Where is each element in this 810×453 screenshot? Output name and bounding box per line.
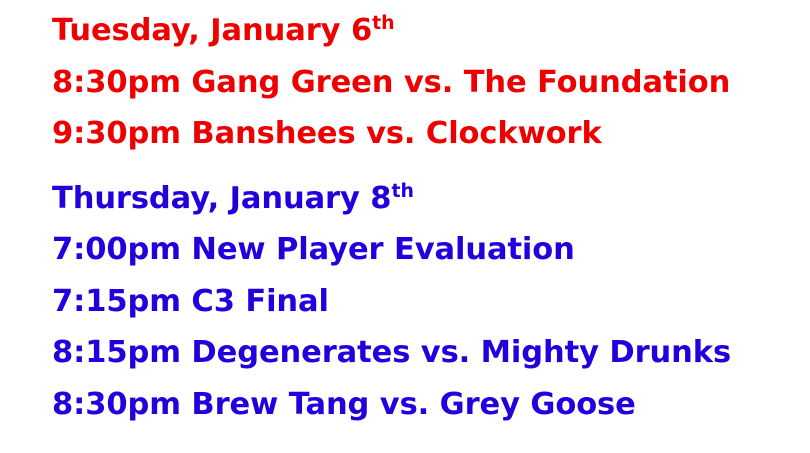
day-heading-tuesday: Tuesday, January 6th xyxy=(52,5,810,57)
event-row: 9:30pm Banshees vs. Clockwork xyxy=(52,108,810,160)
event-time: 8:30pm xyxy=(52,387,181,422)
day-heading-ordinal-suffix: th xyxy=(391,179,414,201)
day-heading-thursday: Thursday, January 8th xyxy=(52,173,810,225)
event-row: 8:15pm Degenerates vs. Mighty Drunks xyxy=(52,327,810,379)
event-name: Brew Tang vs. Grey Goose xyxy=(191,387,635,422)
event-time: 7:00pm xyxy=(52,232,181,267)
day-heading-date-text: Thursday, January 8 xyxy=(52,181,391,216)
event-time: 7:15pm xyxy=(52,284,181,319)
event-row: 7:00pm New Player Evaluation xyxy=(52,224,810,276)
day-group-thursday-january-8: Thursday, January 8th 7:00pm New Player … xyxy=(0,160,810,431)
day-heading-ordinal-suffix: th xyxy=(372,12,395,34)
event-name: New Player Evaluation xyxy=(191,232,574,267)
schedule-board: Tuesday, January 6th 8:30pm Gang Green v… xyxy=(0,0,810,453)
event-name: Gang Green vs. The Foundation xyxy=(191,65,730,100)
event-row: 7:15pm C3 Final xyxy=(52,276,810,328)
event-time: 8:30pm xyxy=(52,65,181,100)
event-row: 8:30pm Brew Tang vs. Grey Goose xyxy=(52,379,810,431)
event-time: 8:15pm xyxy=(52,335,181,370)
event-name: C3 Final xyxy=(191,284,328,319)
event-name: Degenerates vs. Mighty Drunks xyxy=(191,335,731,370)
day-group-tuesday-january-6: Tuesday, January 6th 8:30pm Gang Green v… xyxy=(0,0,810,160)
event-row: 8:30pm Gang Green vs. The Foundation xyxy=(52,57,810,109)
event-name: Banshees vs. Clockwork xyxy=(191,116,601,151)
day-heading-date-text: Tuesday, January 6 xyxy=(52,13,372,48)
event-time: 9:30pm xyxy=(52,116,181,151)
